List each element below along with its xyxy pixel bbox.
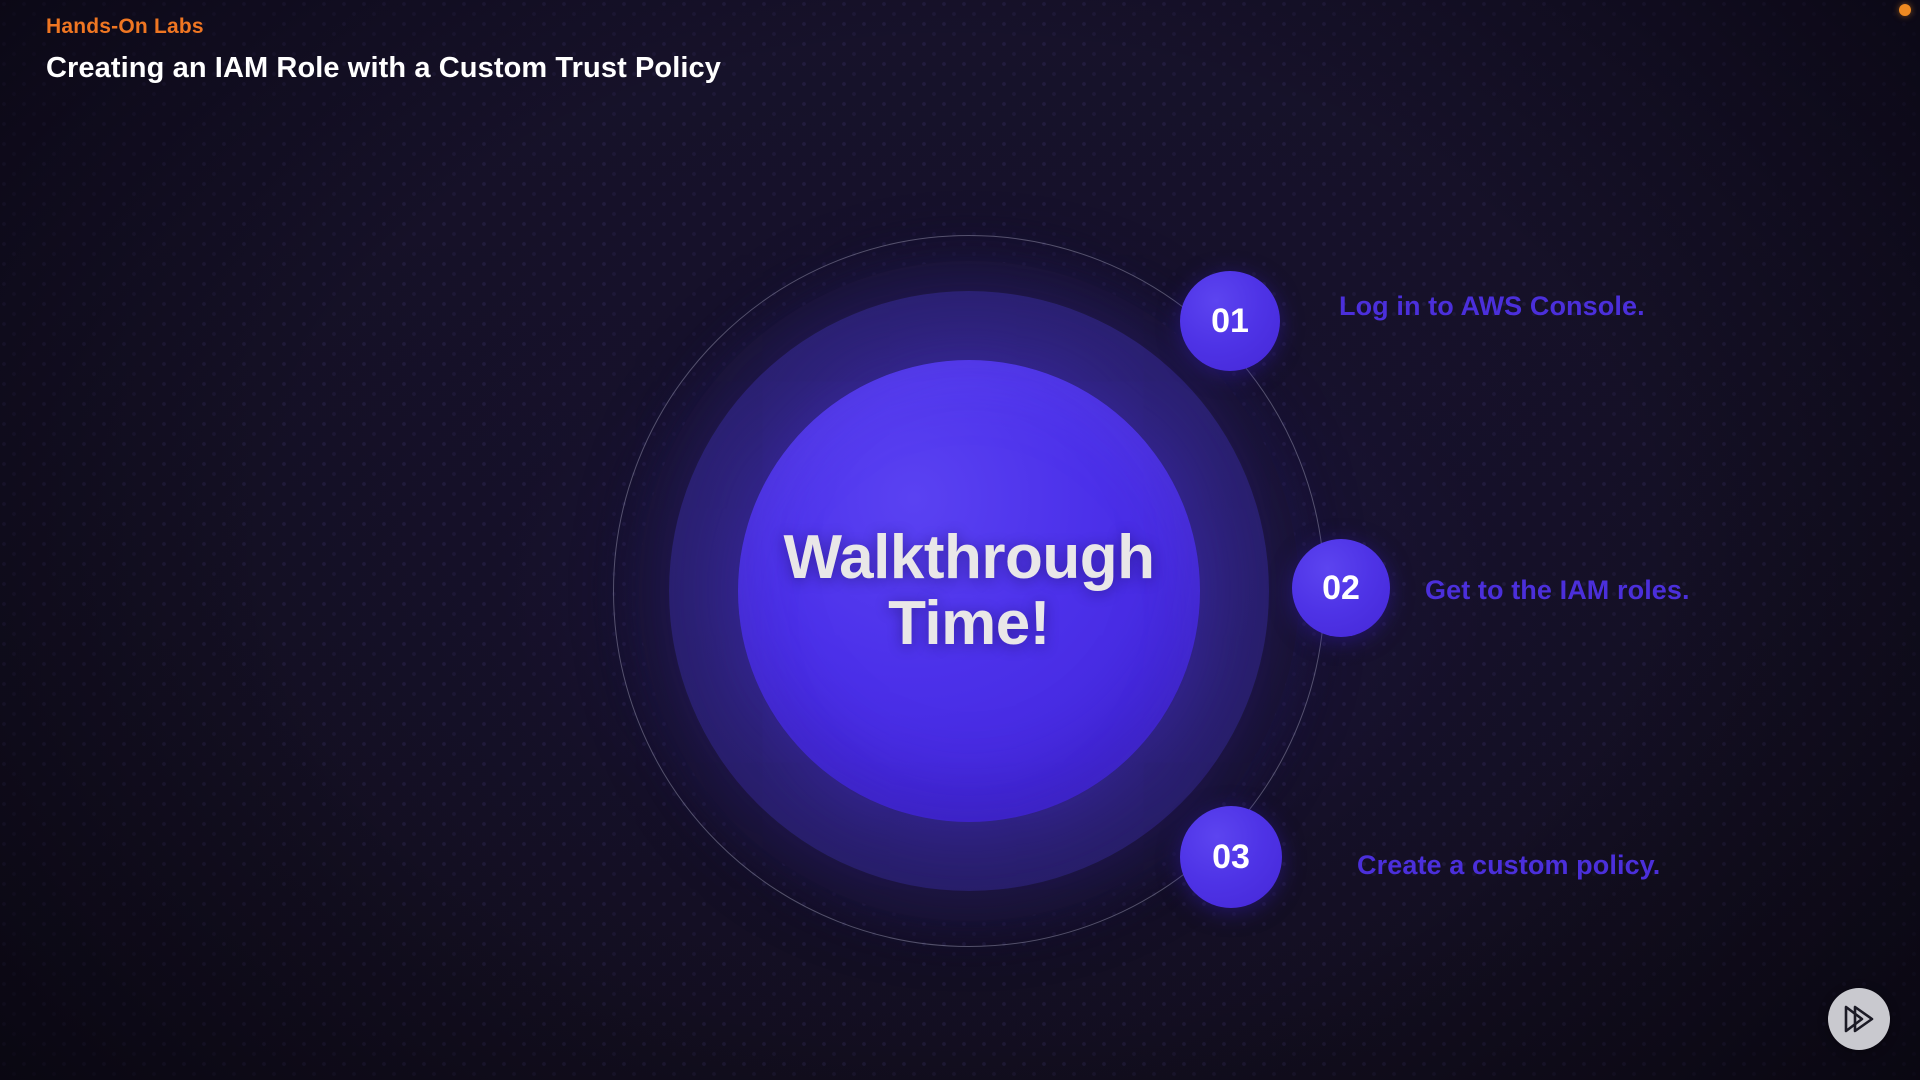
page-title: Creating an IAM Role with a Custom Trust… — [46, 51, 721, 86]
orange-status-dot — [1899, 4, 1911, 16]
step-label-02: Get to the IAM roles. — [1425, 575, 1690, 606]
eyebrow-label: Hands-On Labs — [46, 14, 721, 39]
step-label-01: Log in to AWS Console. — [1339, 291, 1645, 322]
center-headline-line-1: Walkthrough — [783, 523, 1154, 592]
center-core-circle: Walkthrough Time! — [738, 360, 1200, 822]
center-headline-line-2: Time! — [888, 589, 1050, 658]
step-badge-01[interactable]: 01 — [1180, 271, 1280, 371]
play-forward-icon[interactable] — [1828, 988, 1890, 1050]
slide-header: Hands-On Labs Creating an IAM Role with … — [46, 14, 721, 86]
step-badge-03[interactable]: 03 — [1180, 806, 1282, 908]
step-label-03: Create a custom policy. — [1357, 850, 1660, 881]
step-badge-02[interactable]: 02 — [1292, 539, 1390, 637]
center-headline: Walkthrough Time! — [773, 525, 1164, 656]
slide-canvas: Hands-On Labs Creating an IAM Role with … — [0, 0, 1920, 1080]
